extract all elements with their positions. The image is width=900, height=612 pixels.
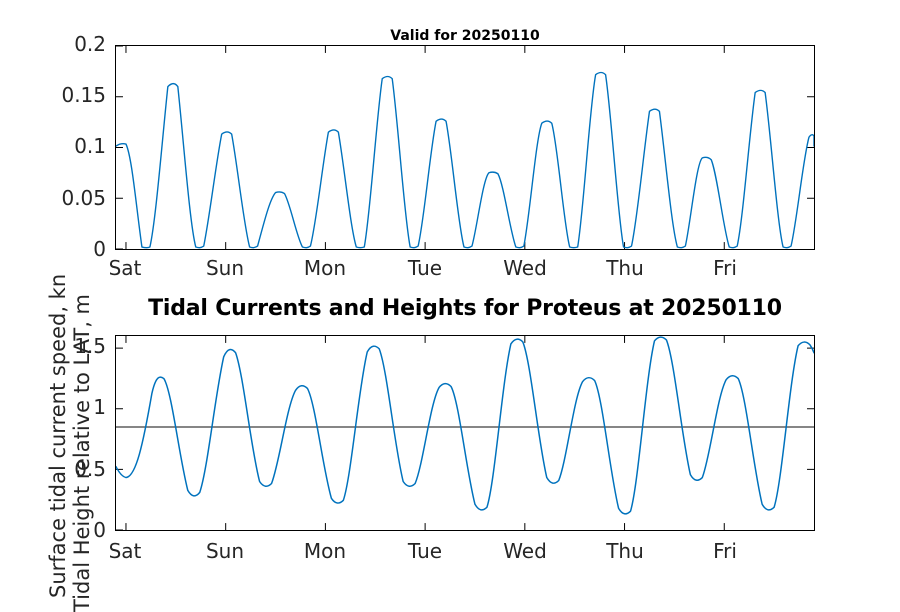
y-tick-marks-top [116, 46, 814, 249]
x-tick-label-bottom-wed: Wed [485, 541, 565, 561]
x-tick-marks-bottom [126, 336, 724, 530]
x-tick-label-bottom-mon: Mon [285, 541, 365, 561]
tidal-height-plot-area [116, 336, 814, 530]
y-axis-label-top: Surface tidal current speed, kn [46, 274, 70, 598]
current-speed-curve [116, 72, 814, 247]
x-tick-label-bottom-fri: Fri [685, 541, 765, 561]
y-tick-label-top-3: 0.05 [14, 188, 106, 208]
y-tick-label-top-4: 0 [14, 239, 106, 259]
subtitle-valid-for: Valid for 20250110 [115, 28, 815, 44]
x-tick-label-bottom-thu: Thu [585, 541, 665, 561]
tidal-height-curve [116, 337, 814, 514]
y-tick-label-bottom-2: 0.5 [14, 459, 106, 479]
y-tick-label-top-1: 0.15 [14, 85, 106, 105]
chart-current-speed [115, 45, 815, 250]
x-tick-marks-top [126, 46, 724, 249]
chart-tidal-height [115, 335, 815, 531]
figure-canvas: Surface tidal current speed, kn Tidal He… [0, 0, 900, 600]
x-tick-label-top-sun: Sun [185, 258, 265, 278]
y-tick-label-top-2: 0.1 [14, 136, 106, 156]
x-tick-label-top-mon: Mon [285, 258, 365, 278]
x-tick-label-top-thu: Thu [585, 258, 665, 278]
x-tick-label-bottom-tue: Tue [385, 541, 465, 561]
x-tick-label-bottom-sat: Sat [85, 541, 165, 561]
x-tick-label-top-fri: Fri [685, 258, 765, 278]
y-tick-label-bottom-1: 1 [14, 397, 106, 417]
current-speed-plot-area [116, 46, 814, 249]
x-tick-label-bottom-sun: Sun [185, 541, 265, 561]
page-title: Tidal Currents and Heights for Proteus a… [115, 296, 815, 321]
x-tick-label-top-wed: Wed [485, 258, 565, 278]
y-tick-label-top-0: 0.2 [14, 34, 106, 54]
y-tick-label-bottom-0: 1.5 [14, 336, 106, 356]
x-tick-label-top-sat: Sat [85, 258, 165, 278]
x-tick-label-top-tue: Tue [385, 258, 465, 278]
y-tick-label-bottom-3: 0 [14, 520, 106, 540]
